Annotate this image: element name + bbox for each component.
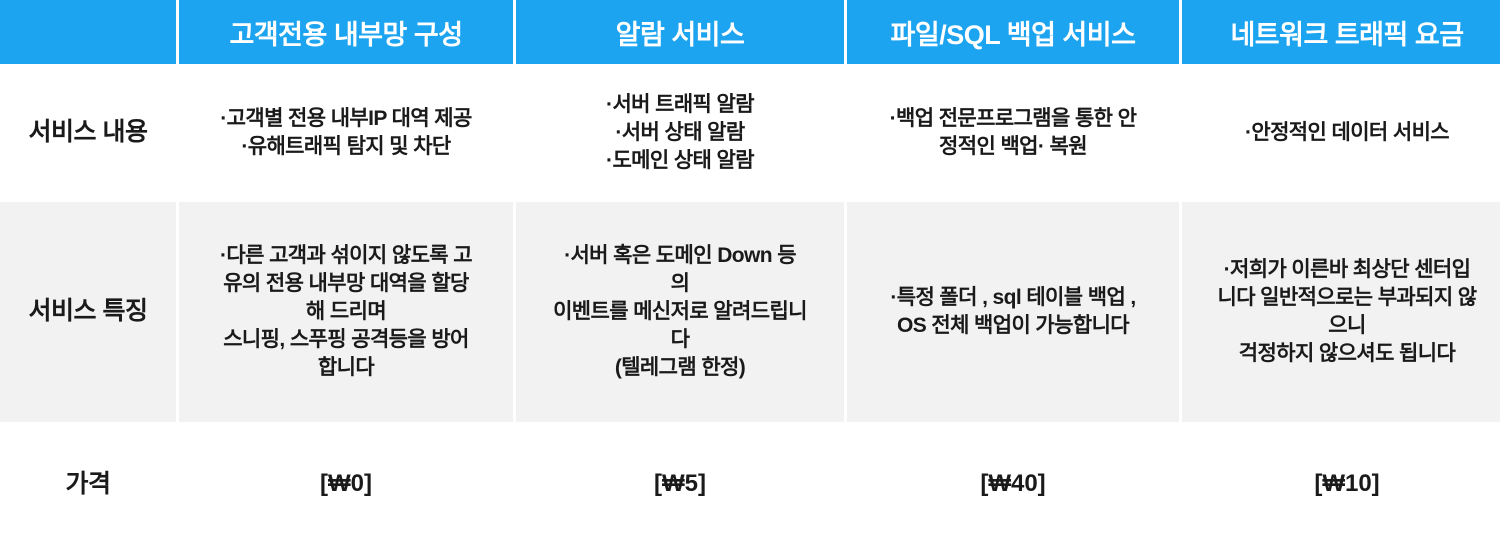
column-header-internal-network: 고객전용 내부망 구성 — [179, 0, 513, 64]
cell-service-content-alarm-service: ·서버 트래픽 알람 ·서버 상태 알람 ·도메인 상태 알람 — [516, 64, 844, 202]
cell-service-features-backup-service: ·특정 폴더 , sql 테이블 백업 , OS 전체 백업이 가능합니다 — [847, 202, 1179, 422]
cell-price-internal-network: [₩0] — [179, 422, 513, 547]
column-header-alarm-service: 알람 서비스 — [516, 0, 844, 64]
column-header-backup-service: 파일/SQL 백업 서비스 — [847, 0, 1179, 64]
cell-service-content-internal-network: ·고객별 전용 내부IP 대역 제공 ·유해트래픽 탐지 및 차단 — [179, 64, 513, 202]
cell-service-features-internal-network: ·다른 고객과 섞이지 않도록 고 유의 전용 내부망 대역을 할당 해 드리며… — [179, 202, 513, 422]
cell-price-network-traffic-fee: [₩10] — [1182, 422, 1500, 547]
service-comparison-table: 고객전용 내부망 구성 알람 서비스 파일/SQL 백업 서비스 네트워크 트래… — [0, 0, 1500, 547]
comparison-table-sheet: 고객전용 내부망 구성 알람 서비스 파일/SQL 백업 서비스 네트워크 트래… — [0, 0, 1500, 547]
cell-service-features-alarm-service: ·서버 혹은 도메인 Down 등 의 이벤트를 메신저로 알려드립니 다 (텔… — [516, 202, 844, 422]
table-corner-cell — [0, 0, 176, 64]
cell-price-alarm-service: [₩5] — [516, 422, 844, 547]
cell-service-features-network-traffic-fee: ·저희가 이른바 최상단 센터입 니다 일반적으로는 부과되지 않 으니 걱정하… — [1182, 202, 1500, 422]
cell-service-content-backup-service: ·백업 전문프로그램을 통한 안 정적인 백업· 복원 — [847, 64, 1179, 202]
column-header-network-traffic-fee: 네트워크 트래픽 요금 — [1182, 0, 1500, 64]
row-header-service-content: 서비스 내용 — [0, 64, 176, 202]
row-header-service-features: 서비스 특징 — [0, 202, 176, 422]
cell-price-backup-service: [₩40] — [847, 422, 1179, 547]
cell-service-content-network-traffic-fee: ·안정적인 데이터 서비스 — [1182, 64, 1500, 202]
row-header-price: 가격 — [0, 422, 176, 547]
